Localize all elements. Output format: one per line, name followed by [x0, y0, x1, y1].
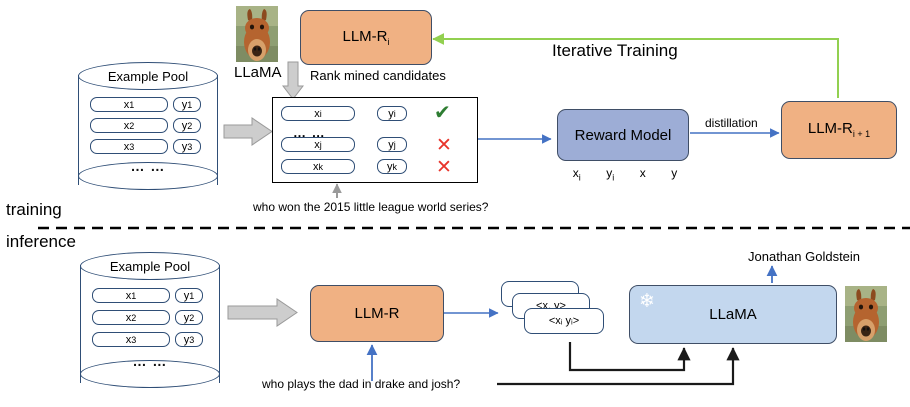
reward-model-label: Reward Model [575, 128, 672, 143]
arrow-pool-to-llmr [228, 299, 297, 326]
inference-section-label: inference [6, 232, 76, 252]
pool-y-slot: y3 [173, 139, 201, 154]
reward-input-y: y [671, 166, 677, 182]
reward-model-box[interactable]: Reward Model [557, 109, 689, 161]
llm-r-label: LLM-R [354, 306, 399, 321]
candidate-y: yj [377, 137, 407, 152]
llm-r-box[interactable]: LLM-R [310, 285, 444, 342]
candidate-x: xk [281, 159, 355, 174]
snowflake-icon: ❄ [639, 292, 655, 311]
inference-query-text: who plays the dad in drake and josh? [262, 377, 460, 391]
pool-y-slot: y1 [175, 288, 203, 303]
reward-input-xi: xi [573, 166, 581, 182]
candidate-row: xk yk [281, 159, 407, 174]
pool-x-slot: x1 [90, 97, 168, 112]
candidate-row: xj yj [281, 137, 407, 152]
candidate-y: yi [377, 106, 407, 121]
candidate-y: yk [377, 159, 407, 174]
reward-model-inputs: xi yi x y [560, 166, 690, 182]
reward-input-x: x [640, 166, 646, 182]
llama-photo-inference [845, 286, 887, 342]
llama-box-label: LLaMA [709, 307, 757, 322]
pool-ellipsis: … … [78, 158, 218, 174]
rank-mined-candidates-label: Rank mined candidates [310, 68, 446, 83]
llama-photo-training [236, 6, 278, 62]
pool-ellipsis: … … [80, 353, 220, 369]
llama-image [236, 6, 278, 62]
check-icon: ✔ [434, 103, 451, 123]
llm-r-i-box[interactable]: LLM-Ri [300, 10, 432, 65]
cross-icon: ✕ [436, 136, 452, 155]
iterative-training-label: Iterative Training [552, 41, 678, 61]
demo-card-front: <xᵢ yᵢ> [524, 308, 604, 334]
example-pool-title: Example Pool [78, 69, 218, 84]
diagram-root: Example Pool x1 y1 x2 y2 x3 y3 … [0, 0, 910, 407]
pool-row: x1 y1 [92, 288, 203, 303]
pool-y-slot: y3 [175, 332, 203, 347]
candidate-x: xi [281, 106, 355, 121]
pool-x-slot: x3 [92, 332, 170, 347]
pool-row: x2 y2 [90, 118, 201, 133]
llama-image [845, 286, 887, 342]
pool-x-slot: x2 [90, 118, 168, 133]
pool-y-slot: y2 [175, 310, 203, 325]
example-pool-title: Example Pool [80, 259, 220, 274]
pool-row: x3 y3 [92, 332, 203, 347]
inference-answer-text: Jonathan Goldstein [748, 249, 860, 264]
pool-y-slot: y1 [173, 97, 201, 112]
pool-x-slot: x3 [90, 139, 168, 154]
example-pool-training: Example Pool x1 y1 x2 y2 x3 y3 … [78, 62, 218, 199]
arrow-query-to-llama [497, 348, 733, 384]
pool-row: x2 y2 [92, 310, 203, 325]
example-pool-inference: Example Pool x1 y1 x2 y2 x3 y3 … [80, 252, 220, 397]
llm-r-next-box[interactable]: LLM-Ri + 1 [781, 101, 897, 159]
reward-input-yi: yi [606, 166, 614, 182]
llm-r-next-label: LLM-Ri + 1 [808, 121, 870, 139]
arrow-llmri-to-candidates [283, 62, 303, 99]
arrow-pool-to-candidates [224, 118, 272, 145]
training-section-label: training [6, 200, 62, 220]
candidate-x: xj [281, 137, 355, 152]
candidate-ranking-panel: xi yi … … xj yj xk yk ✔ ✕ [272, 97, 478, 183]
distillation-label: distillation [705, 116, 758, 130]
llm-r-i-label: LLM-Ri [342, 29, 389, 47]
llama-caption-training: LLaMA [234, 64, 282, 81]
pool-y-slot: y2 [173, 118, 201, 133]
cross-icon: ✕ [436, 158, 452, 177]
llama-box-inference[interactable]: ❄ LLaMA [629, 285, 837, 344]
pool-x-slot: x1 [92, 288, 170, 303]
arrow-cards-to-llama [570, 342, 684, 370]
pool-x-slot: x2 [92, 310, 170, 325]
pool-row: x3 y3 [90, 139, 201, 154]
training-query-text: who won the 2015 little league world ser… [253, 200, 488, 214]
pool-row: x1 y1 [90, 97, 201, 112]
candidate-row: xi yi [281, 106, 407, 121]
